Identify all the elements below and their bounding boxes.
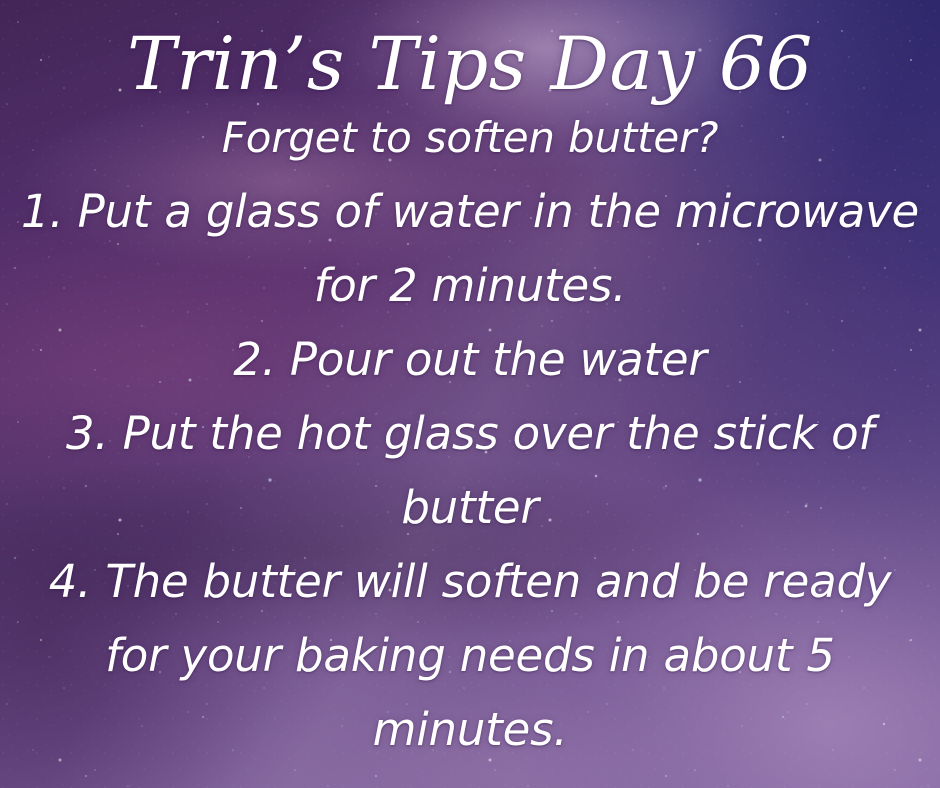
tip-step-line-3: 2. Pour out the water [8,323,932,397]
poster-title: Trin’s Tips Day 66 [0,0,940,101]
poster-content: Trin’s Tips Day 66 Forget to soften butt… [0,0,940,788]
tip-step-line-7: for your baking needs in about 5 [8,619,932,693]
tip-intro-line: Forget to soften butter? [8,101,932,175]
tip-body: Forget to soften butter? 1. Put a glass … [0,101,940,767]
tip-step-line-1: 1. Put a glass of water in the microwave [8,175,932,249]
tip-step-line-6: 4. The butter will soften and be ready [8,545,932,619]
tip-poster: Trin’s Tips Day 66 Forget to soften butt… [0,0,940,788]
tip-step-line-5: butter [8,471,932,545]
tip-step-line-4: 3. Put the hot glass over the stick of [8,397,932,471]
tip-step-line-2: for 2 minutes. [8,249,932,323]
tip-step-line-8: minutes. [8,693,932,767]
